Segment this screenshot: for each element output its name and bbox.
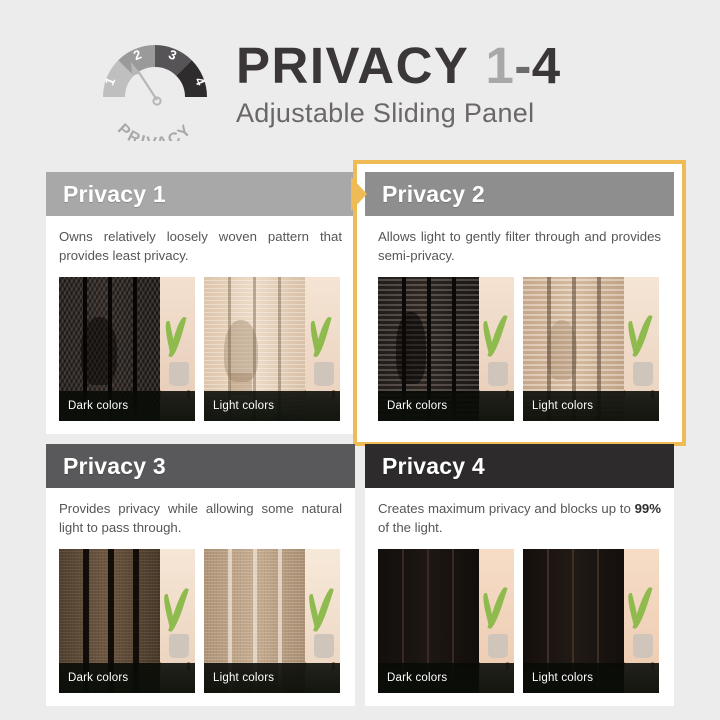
- panel-photo-dark-2: Dark colors: [378, 277, 514, 421]
- card-images-1: Dark colors: [59, 277, 342, 421]
- privacy-card-1[interactable]: Privacy 1 Owns relatively loosely woven …: [46, 172, 355, 434]
- image-caption-light-3: Light colors: [204, 663, 340, 693]
- panel-photo-dark-4: Dark colors: [378, 549, 514, 693]
- card-body-3: Provides privacy while allowing some nat…: [46, 488, 355, 706]
- page-title: PRIVACY1-4: [236, 40, 561, 91]
- privacy-levels-infographic: 1 2 3 4 PRIVACY PR: [0, 0, 720, 720]
- image-caption-dark-3: Dark colors: [59, 663, 195, 693]
- card-description-4-suffix: of the light.: [378, 520, 443, 535]
- privacy-card-4[interactable]: Privacy 4 Creates maximum privacy and bl…: [365, 444, 674, 706]
- plant-pot: [314, 362, 334, 386]
- plant-pot: [633, 362, 653, 386]
- card-images-2: Dark colors: [378, 277, 661, 421]
- privacy-card-grid: Privacy 1 Owns relatively loosely woven …: [46, 172, 674, 706]
- panel-photo-dark-1: Dark colors: [59, 277, 195, 421]
- page-title-num-end: 4: [532, 37, 561, 94]
- image-caption-dark-4: Dark colors: [378, 663, 514, 693]
- page-subtitle: Adjustable Sliding Panel: [236, 100, 561, 127]
- privacy-card-2[interactable]: Privacy 2 Allows light to gently filter …: [353, 160, 686, 446]
- card-body-1: Owns relatively loosely woven pattern th…: [46, 216, 355, 434]
- gauge-icon: 1 2 3 4 PRIVACY: [96, 29, 214, 141]
- card-header-4: Privacy 4: [365, 444, 674, 488]
- card-body-2: Allows light to gently filter through an…: [365, 216, 674, 434]
- plant-pot: [169, 634, 189, 658]
- image-caption-light-1: Light colors: [204, 391, 340, 421]
- privacy-card-3[interactable]: Privacy 3 Provides privacy while allowin…: [46, 444, 355, 706]
- card-body-4: Creates maximum privacy and blocks up to…: [365, 488, 674, 706]
- panel-photo-dark-3: Dark colors: [59, 549, 195, 693]
- image-caption-dark-2: Dark colors: [378, 391, 514, 421]
- privacy-gauge-logo: 1 2 3 4 PRIVACY: [96, 29, 214, 141]
- image-caption-light-2: Light colors: [523, 391, 659, 421]
- card-images-3: Dark colors: [59, 549, 342, 693]
- page-title-dash: -: [514, 37, 531, 94]
- page-title-num-start: 1: [485, 37, 514, 94]
- plant-pot: [488, 634, 508, 658]
- image-caption-light-4: Light colors: [523, 663, 659, 693]
- plant-pot: [488, 362, 508, 386]
- panel-photo-light-1: Light colors: [204, 277, 340, 421]
- card-title-4: Privacy 4: [382, 453, 485, 480]
- card-description-4-highlight: 99%: [635, 501, 661, 516]
- card-description-4-prefix: Creates maximum privacy and blocks up to: [378, 501, 635, 516]
- card-header-1: Privacy 1: [46, 172, 355, 216]
- card-description-1: Owns relatively loosely woven pattern th…: [59, 228, 342, 266]
- card-title-3: Privacy 3: [63, 453, 166, 480]
- image-caption-dark-1: Dark colors: [59, 391, 195, 421]
- svg-text:PRIVACY: PRIVACY: [114, 121, 196, 141]
- panel-photo-light-2: Light colors: [523, 277, 659, 421]
- plant-pot: [169, 362, 189, 386]
- selection-pointer-icon: [351, 177, 367, 211]
- card-header-3: Privacy 3: [46, 444, 355, 488]
- page-title-main: PRIVACY: [236, 37, 469, 94]
- card-description-3: Provides privacy while allowing some nat…: [59, 500, 342, 538]
- person-silhouette: [396, 312, 426, 384]
- card-description-2: Allows light to gently filter through an…: [378, 228, 661, 266]
- card-title-1: Privacy 1: [63, 181, 166, 208]
- panel-photo-light-4: Light colors: [523, 549, 659, 693]
- panel-photo-light-3: Light colors: [204, 549, 340, 693]
- page-header: 1 2 3 4 PRIVACY PR: [0, 18, 720, 146]
- title-block: PRIVACY1-4 Adjustable Sliding Panel: [236, 38, 561, 127]
- plant-pot: [633, 634, 653, 658]
- card-images-4: Dark colors: [378, 549, 661, 693]
- card-description-4: Creates maximum privacy and blocks up to…: [378, 500, 661, 538]
- plant-pot: [314, 634, 334, 658]
- card-header-2: Privacy 2: [365, 172, 674, 216]
- card-title-2: Privacy 2: [382, 181, 485, 208]
